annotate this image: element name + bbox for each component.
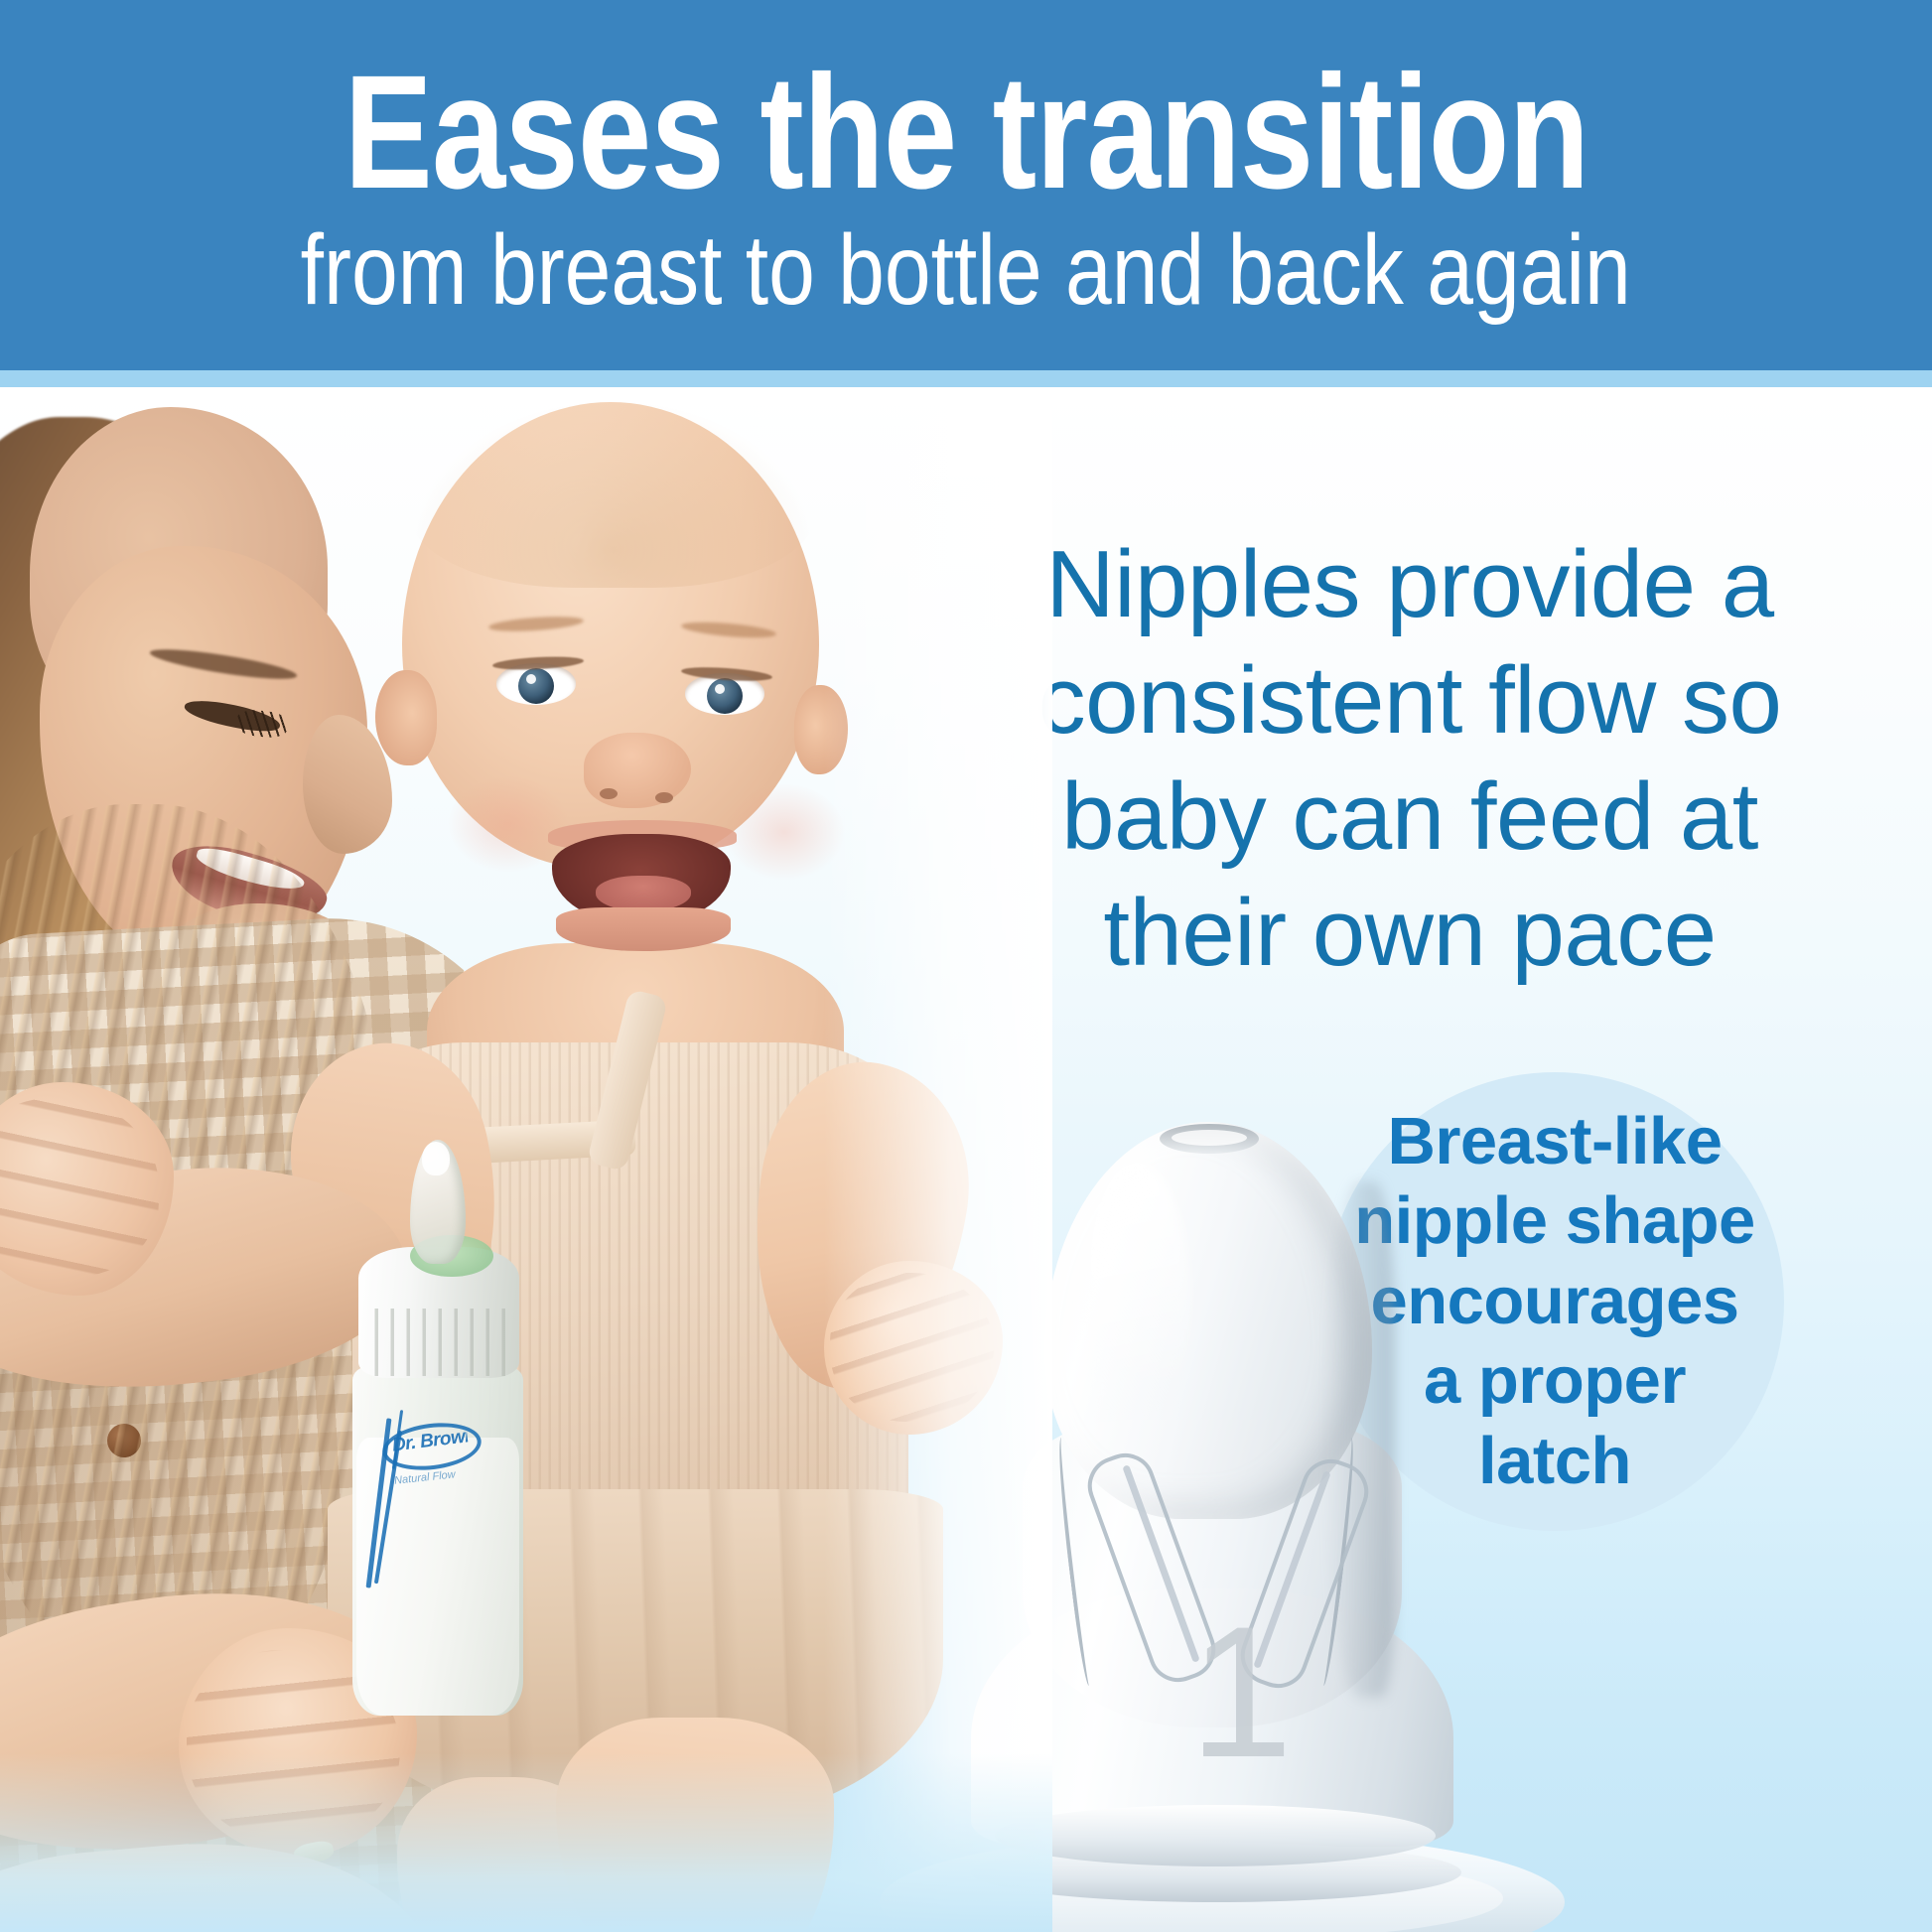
baby-tongue bbox=[596, 876, 691, 911]
baby-lower-lip bbox=[556, 907, 731, 951]
photo-content: Dr. Brown's Natural Flow bbox=[0, 387, 1052, 1932]
baby-eye-left bbox=[496, 663, 576, 705]
header-band: Eases the transition from breast to bott… bbox=[0, 0, 1932, 370]
product-feature-banner: Eases the transition from breast to bott… bbox=[0, 0, 1932, 1932]
nipple-specular-highlight bbox=[1082, 1162, 1191, 1449]
nipple-collar-ring-upper bbox=[995, 1805, 1436, 1866]
photo-bottom-fade bbox=[0, 1753, 1052, 1932]
header-accent-stripe bbox=[0, 370, 1932, 387]
baby-cheek-left bbox=[449, 776, 568, 872]
photo-edge-fade bbox=[824, 387, 1052, 1932]
feature-copy: Nipples provide a consistent flow so bab… bbox=[1003, 526, 1817, 991]
baby-hair bbox=[409, 399, 816, 588]
nipple-tip-opening-inner bbox=[1172, 1130, 1247, 1146]
dr-browns-bottle: Dr. Brown's Natural Flow bbox=[352, 1140, 521, 1716]
baby-ear-left bbox=[375, 670, 437, 765]
bottle-nipple-tip bbox=[422, 1142, 450, 1175]
page-title: Eases the transition bbox=[344, 51, 1588, 212]
baby-iris-right bbox=[707, 678, 743, 714]
bottle-collar-ridges bbox=[362, 1309, 516, 1376]
baby-nostril-left bbox=[600, 788, 618, 799]
lifestyle-photo: Dr. Brown's Natural Flow bbox=[0, 387, 1052, 1932]
page-subtitle: from breast to bottle and back again bbox=[301, 220, 1631, 320]
baby-iris-left bbox=[518, 668, 554, 704]
baby-nostril-right bbox=[655, 792, 673, 803]
